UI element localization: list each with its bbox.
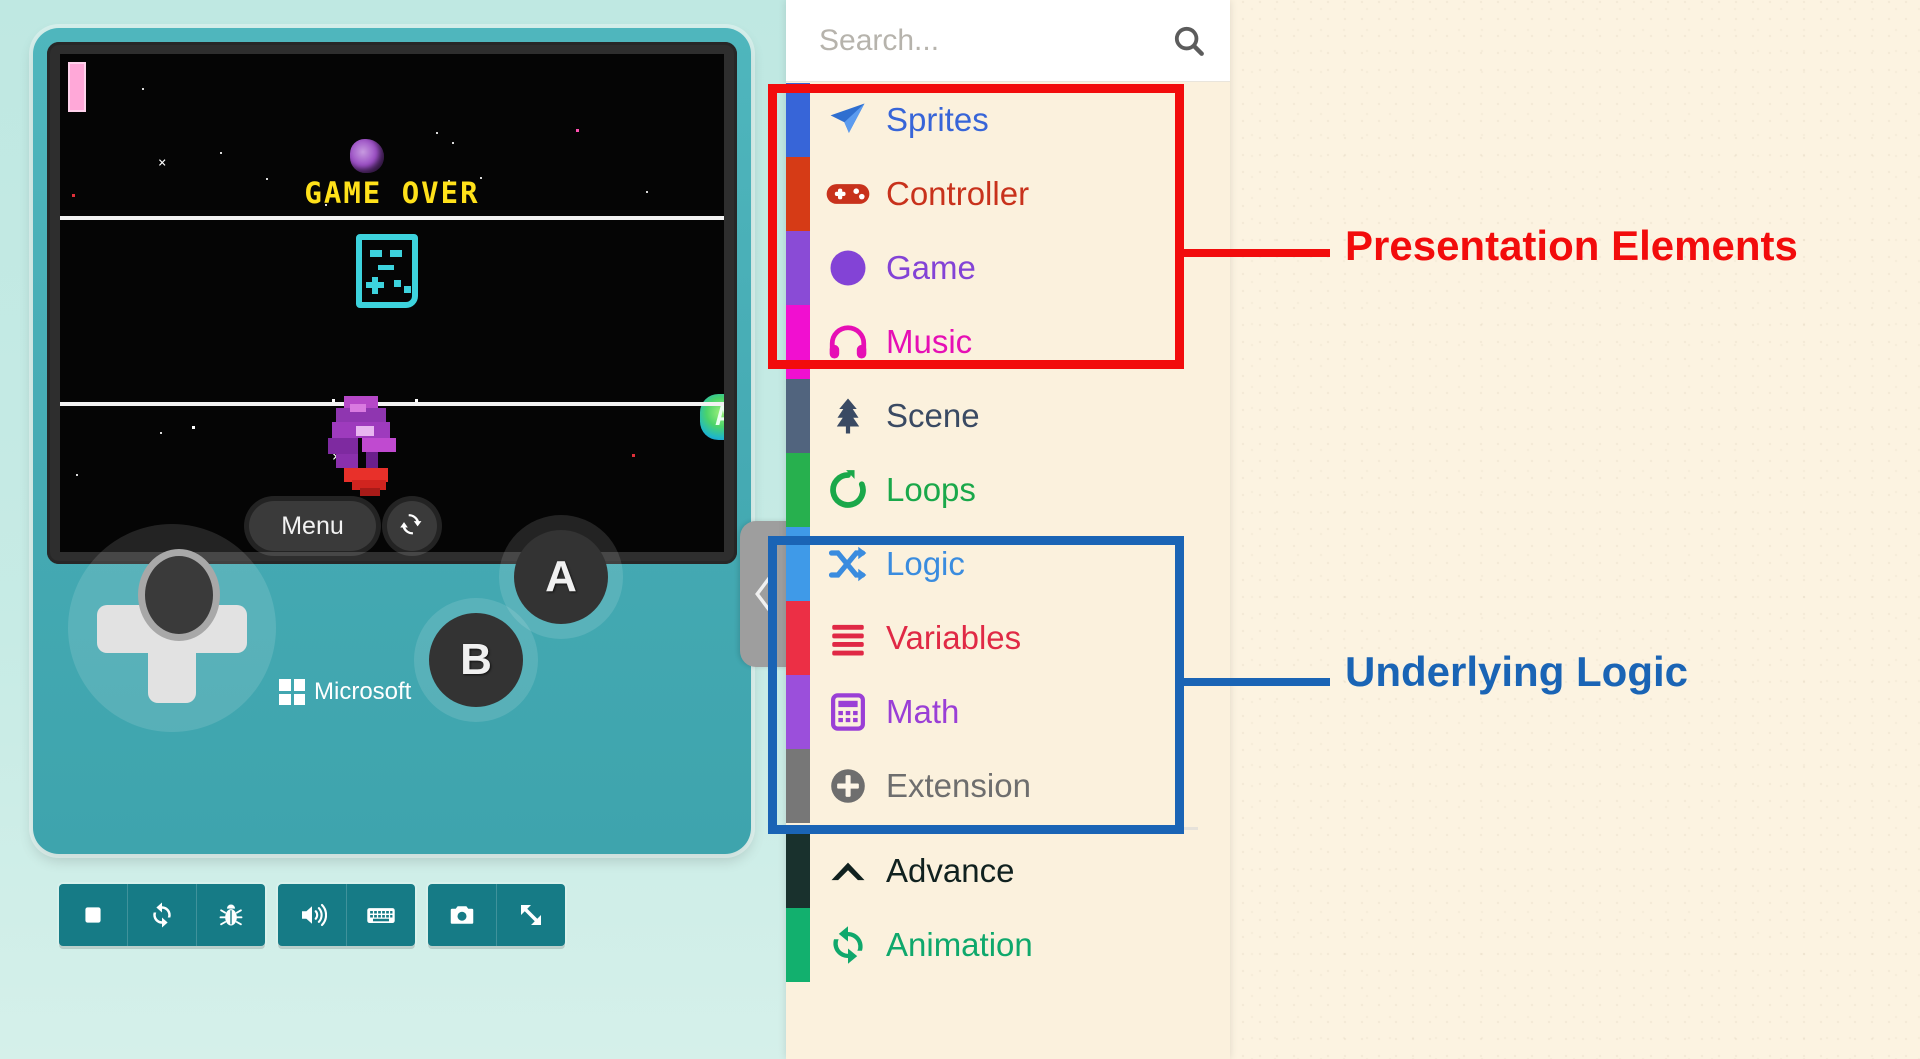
reset-button[interactable] bbox=[387, 501, 437, 551]
underlying-logic-label: Underlying Logic bbox=[1345, 648, 1688, 696]
dpad-well bbox=[68, 524, 276, 732]
category-controller[interactable]: Controller bbox=[786, 157, 1198, 231]
a-button[interactable]: A bbox=[514, 530, 608, 624]
category-scene[interactable]: Scene bbox=[786, 379, 1198, 453]
category-loops[interactable]: Loops bbox=[786, 453, 1198, 527]
keyboard-button[interactable] bbox=[347, 884, 415, 946]
category-music[interactable]: Music bbox=[786, 305, 1198, 379]
search-bar[interactable]: Search... bbox=[786, 0, 1230, 82]
circle-icon bbox=[810, 247, 886, 289]
category-list: Sprites Controller Game bbox=[786, 83, 1198, 982]
a-button-badge: A bbox=[700, 394, 724, 440]
microsoft-logo: Microsoft bbox=[279, 678, 411, 706]
category-stripe bbox=[786, 749, 810, 823]
stop-square-icon bbox=[80, 902, 106, 928]
category-stripe bbox=[786, 834, 810, 908]
underlying-logic-leader-line bbox=[1180, 678, 1330, 686]
presentation-elements-label: Presentation Elements bbox=[1345, 222, 1798, 270]
star bbox=[220, 152, 222, 154]
category-separator bbox=[786, 827, 1198, 830]
star bbox=[452, 142, 454, 144]
category-label: Controller bbox=[886, 175, 1029, 213]
star bbox=[632, 454, 635, 457]
b-button[interactable]: B bbox=[429, 613, 523, 707]
shuffle-icon bbox=[810, 542, 886, 586]
keyboard-icon bbox=[365, 899, 397, 931]
refresh-icon bbox=[397, 511, 427, 541]
block-palette: Search... Sprites bbox=[786, 0, 1230, 1059]
camera-icon bbox=[447, 900, 477, 930]
headphones-icon bbox=[810, 320, 886, 364]
category-label: Extension bbox=[886, 767, 1031, 805]
dpad[interactable] bbox=[97, 553, 247, 703]
restart-button[interactable] bbox=[128, 884, 197, 946]
star-x: × bbox=[158, 158, 166, 168]
category-stripe bbox=[786, 231, 810, 305]
category-label: Music bbox=[886, 323, 972, 361]
explosion-svg bbox=[322, 392, 412, 502]
simulator-toolbar bbox=[59, 884, 565, 946]
star bbox=[576, 129, 579, 132]
calculator-icon bbox=[810, 691, 886, 733]
explosion-sprite bbox=[322, 392, 412, 502]
stop-button[interactable] bbox=[59, 884, 128, 946]
bug-icon bbox=[217, 901, 245, 929]
category-label: Variables bbox=[886, 619, 1021, 657]
star bbox=[192, 426, 195, 429]
category-stripe bbox=[786, 601, 810, 675]
star bbox=[436, 132, 438, 134]
screenshot-button[interactable] bbox=[428, 884, 497, 946]
category-stripe bbox=[786, 83, 810, 157]
animation-refresh-icon bbox=[810, 922, 886, 968]
lines-icon bbox=[810, 617, 886, 659]
b-button-well: B bbox=[414, 598, 538, 722]
category-stripe bbox=[786, 675, 810, 749]
category-label: Animation bbox=[886, 926, 1033, 964]
toolbar-group-capture bbox=[428, 884, 565, 946]
category-logic[interactable]: Logic bbox=[786, 527, 1198, 601]
category-sprites[interactable]: Sprites bbox=[786, 83, 1198, 157]
category-label: Sprites bbox=[886, 101, 989, 139]
restart-icon bbox=[147, 900, 177, 930]
category-extension[interactable]: Extension bbox=[786, 749, 1198, 823]
category-stripe bbox=[786, 453, 810, 527]
asteroid-sprite bbox=[350, 139, 384, 173]
presentation-elements-leader-line bbox=[1180, 249, 1330, 257]
simulator-panel: × GAME OVER A bbox=[0, 0, 790, 1059]
microsoft-grid-icon bbox=[279, 679, 305, 705]
game-over-text: GAME OVER bbox=[60, 176, 724, 210]
category-animation[interactable]: Animation bbox=[786, 908, 1198, 982]
gamepad-icon bbox=[810, 171, 886, 217]
toolbar-group-io bbox=[278, 884, 415, 946]
category-stripe bbox=[786, 527, 810, 601]
fullscreen-button[interactable] bbox=[497, 884, 565, 946]
category-label: Logic bbox=[886, 545, 965, 583]
category-label: Advance bbox=[886, 852, 1014, 890]
tree-icon bbox=[810, 395, 886, 437]
search-input[interactable]: Search... bbox=[819, 24, 939, 58]
chevron-left-icon bbox=[748, 571, 782, 617]
loop-arrow-icon bbox=[810, 467, 886, 513]
divider-line bbox=[60, 216, 724, 220]
category-variables[interactable]: Variables bbox=[786, 601, 1198, 675]
expand-icon bbox=[516, 900, 546, 930]
menu-button[interactable]: Menu bbox=[249, 501, 376, 551]
star bbox=[160, 432, 162, 434]
health-bar bbox=[68, 62, 86, 112]
category-stripe bbox=[786, 157, 810, 231]
paper-plane-icon bbox=[810, 98, 886, 142]
category-label: Scene bbox=[886, 397, 980, 435]
category-advance[interactable]: Advance bbox=[786, 834, 1198, 908]
category-label: Game bbox=[886, 249, 976, 287]
search-icon[interactable] bbox=[1170, 22, 1208, 60]
arcade-device: × GAME OVER A bbox=[33, 28, 751, 854]
mute-button[interactable] bbox=[278, 884, 347, 946]
category-math[interactable]: Math bbox=[786, 675, 1198, 749]
star bbox=[76, 474, 78, 476]
speaker-icon bbox=[297, 900, 327, 930]
category-stripe bbox=[786, 305, 810, 379]
toolbar-group-run bbox=[59, 884, 265, 946]
chevron-up-icon bbox=[810, 849, 886, 893]
analog-stick[interactable] bbox=[138, 549, 220, 641]
game-screen[interactable]: × GAME OVER A bbox=[60, 54, 724, 552]
screen-bezel: × GAME OVER A bbox=[47, 42, 737, 564]
gameboy-sprite bbox=[356, 234, 418, 308]
category-stripe bbox=[786, 379, 810, 453]
category-game[interactable]: Game bbox=[786, 231, 1198, 305]
microsoft-wordmark: Microsoft bbox=[314, 678, 411, 706]
star bbox=[142, 88, 144, 90]
category-stripe bbox=[786, 908, 810, 982]
debug-button[interactable] bbox=[197, 884, 265, 946]
category-label: Loops bbox=[886, 471, 976, 509]
plus-circle-icon bbox=[810, 765, 886, 807]
star bbox=[415, 399, 418, 402]
category-label: Math bbox=[886, 693, 959, 731]
